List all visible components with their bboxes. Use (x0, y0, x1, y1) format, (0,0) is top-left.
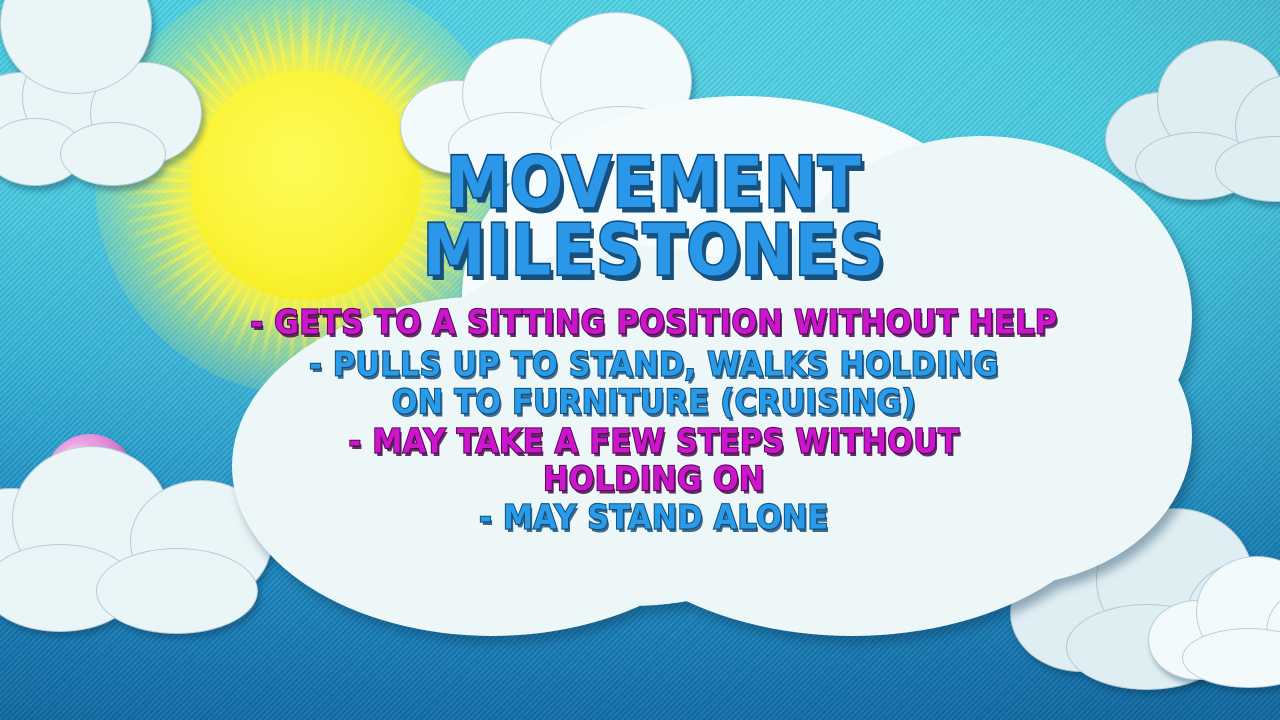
cloud-puff (60, 122, 166, 186)
milestone-item-few-steps: - MAY TAKE A FEW STEPS WITHOUT HOLDING O… (214, 424, 1094, 499)
page-title: MOVEMENT MILESTONES (214, 150, 1094, 285)
cloud-top-left (0, 10, 220, 180)
title-line-1: MOVEMENT (214, 150, 1094, 218)
milestone-line: - PULLS UP TO STAND, WALKS HOLDING (214, 347, 1094, 385)
milestone-line: - MAY STAND ALONE (214, 500, 1094, 538)
milestone-item-sitting-position: - GETS TO A SITTING POSITION WITHOUT HEL… (214, 305, 1094, 343)
milestone-item-pulls-up-to-stand: - PULLS UP TO STAND, WALKS HOLDING ON TO… (214, 347, 1094, 422)
slide-canvas: MOVEMENT MILESTONES - GETS TO A SITTING … (0, 0, 1280, 720)
milestone-line: - MAY TAKE A FEW STEPS WITHOUT (214, 424, 1094, 462)
milestone-line: HOLDING ON (214, 461, 1094, 499)
milestone-item-stand-alone: - MAY STAND ALONE (214, 500, 1094, 538)
bubble-text-content: MOVEMENT MILESTONES - GETS TO A SITTING … (214, 150, 1094, 542)
title-line-2: MILESTONES (214, 218, 1094, 286)
milestone-line: ON TO FURNITURE (CRUISING) (214, 385, 1094, 423)
milestones-list: - GETS TO A SITTING POSITION WITHOUT HEL… (214, 305, 1094, 534)
milestone-line: - GETS TO A SITTING POSITION WITHOUT HEL… (214, 305, 1094, 343)
